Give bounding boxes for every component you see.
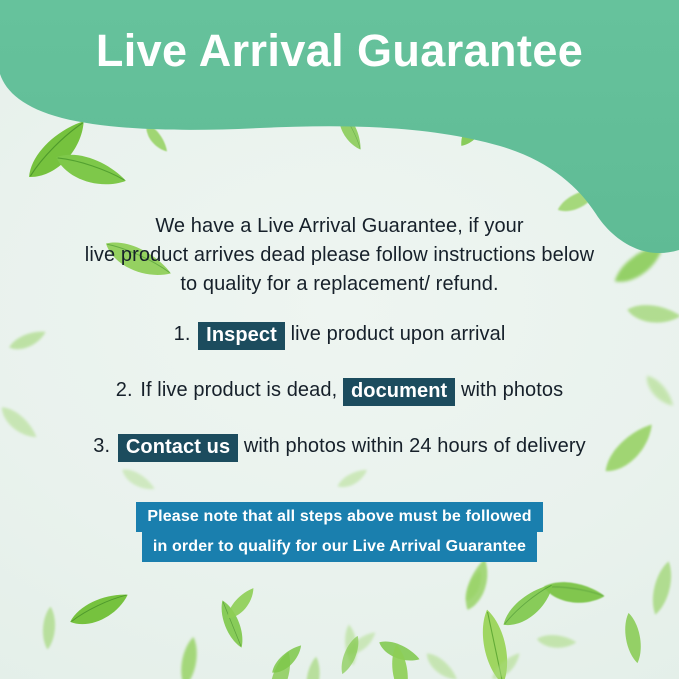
step-highlight-document: document (343, 378, 455, 406)
step-number: 2. (116, 379, 133, 401)
notice-row-1: Please note that all steps above must be… (0, 502, 679, 532)
intro-line-3: to quality for a replacement/ refund. (50, 270, 629, 299)
notice-bar-line-1: Please note that all steps above must be… (136, 502, 542, 532)
intro-line-1: We have a Live Arrival Guarantee, if you… (50, 212, 629, 241)
step-text-after: with photos (461, 379, 563, 401)
step-text-after: with photos within 24 hours of delivery (244, 435, 586, 457)
content-area: We have a Live Arrival Guarantee, if you… (0, 0, 679, 679)
step-item-1: 1. Inspect live product upon arrival (0, 320, 679, 349)
step-highlight-inspect: Inspect (198, 322, 285, 350)
intro-paragraph: We have a Live Arrival Guarantee, if you… (50, 212, 629, 299)
live-arrival-guarantee-poster: Live Arrival Guarantee (0, 0, 679, 679)
notice-row-2: in order to qualify for our Live Arrival… (0, 532, 679, 562)
step-text-after: live product upon arrival (291, 323, 506, 345)
intro-line-2: live product arrives dead please follow … (50, 241, 629, 270)
steps-list: 1. Inspect live product upon arrival 2. … (0, 320, 679, 488)
step-item-2: 2. If live product is dead, document wit… (0, 376, 679, 405)
step-number: 1. (174, 323, 191, 345)
step-item-3: 3. Contact us with photos within 24 hour… (0, 432, 679, 461)
step-text-before: If live product is dead, (140, 379, 337, 401)
step-highlight-contact-us: Contact us (118, 434, 238, 462)
step-number: 3. (93, 435, 110, 457)
notice-bar-line-2: in order to qualify for our Live Arrival… (142, 532, 537, 562)
notice-block: Please note that all steps above must be… (0, 502, 679, 562)
